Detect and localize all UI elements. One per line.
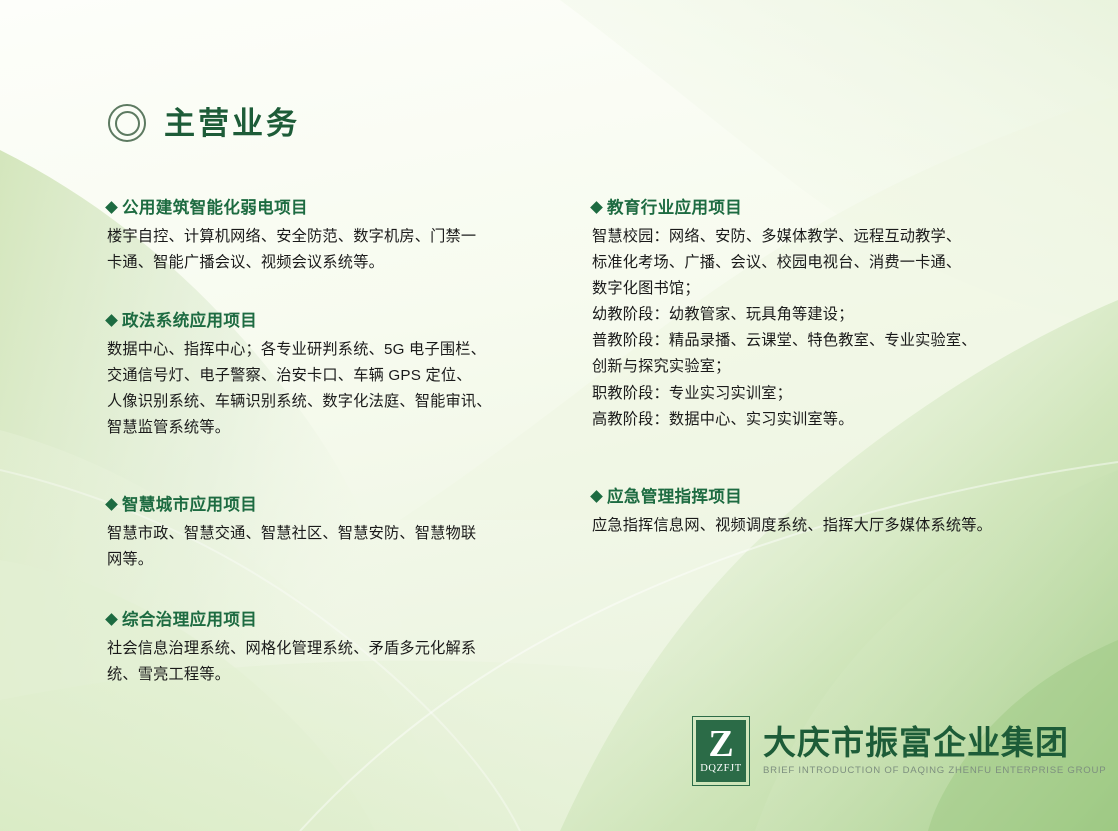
section-body: 数据中心、指挥中心；各专业研判系统、5G 电子围栏、 交通信号灯、电子警察、治安…	[107, 337, 547, 442]
body-line: 数据中心、指挥中心；各专业研判系统、5G 电子围栏、	[107, 337, 547, 363]
page-title: 主营业务	[164, 108, 300, 139]
body-line: 智慧监管系统等。	[107, 415, 547, 441]
section-body: 智慧校园：网络、安防、多媒体教学、远程互动教学、 标准化考场、广播、会议、校园电…	[592, 224, 1040, 433]
body-line: 高教阶段：数据中心、实习实训室等。	[592, 407, 1040, 433]
spacer	[107, 276, 547, 309]
company-name-en: BRIEF INTRODUCTION OF DAQING ZHENFU ENTE…	[763, 765, 1106, 777]
company-name-cn: 大庆市振富企业集团	[763, 725, 1106, 762]
section-heading-label: 综合治理应用项目	[122, 608, 257, 633]
logo-text-block: 大庆市振富企业集团 BRIEF INTRODUCTION OF DAQING Z…	[763, 725, 1106, 777]
spacer	[107, 441, 547, 493]
body-line: 智慧校园：网络、安防、多媒体教学、远程互动教学、	[592, 224, 1040, 250]
section-heading: 应急管理指挥项目	[592, 485, 1040, 510]
spacer	[107, 573, 547, 608]
body-line: 创新与探究实验室；	[592, 354, 1040, 380]
body-line: 应急指挥信息网、视频调度系统、指挥大厅多媒体系统等。	[592, 513, 1040, 539]
section-heading: 公用建筑智能化弱电项目	[107, 196, 547, 221]
section-heading: 政法系统应用项目	[107, 309, 547, 334]
section-heading-label: 应急管理指挥项目	[607, 485, 742, 510]
double-circle-icon-inner	[115, 111, 140, 136]
diamond-bullet-icon	[590, 201, 603, 214]
section-smart-city: 智慧城市应用项目 智慧市政、智慧交通、智慧社区、智慧安防、智慧物联 网等。	[107, 493, 547, 573]
body-line: 职教阶段：专业实习实训室；	[592, 381, 1040, 407]
body-line: 网等。	[107, 547, 547, 573]
body-line: 智慧市政、智慧交通、智慧社区、智慧安防、智慧物联	[107, 521, 547, 547]
section-heading-label: 政法系统应用项目	[122, 309, 257, 334]
body-line: 楼宇自控、计算机网络、安全防范、数字机房、门禁一	[107, 224, 547, 250]
section-emergency-management: 应急管理指挥项目 应急指挥信息网、视频调度系统、指挥大厅多媒体系统等。	[592, 485, 1040, 539]
section-education: 教育行业应用项目 智慧校园：网络、安防、多媒体教学、远程互动教学、 标准化考场、…	[592, 196, 1040, 433]
right-column: 教育行业应用项目 智慧校园：网络、安防、多媒体教学、远程互动教学、 标准化考场、…	[592, 196, 1040, 539]
logo-letter: Z	[708, 727, 733, 762]
section-body: 楼宇自控、计算机网络、安全防范、数字机房、门禁一 卡通、智能广播会议、视频会议系…	[107, 224, 547, 276]
section-body: 智慧市政、智慧交通、智慧社区、智慧安防、智慧物联 网等。	[107, 521, 547, 573]
section-public-building: 公用建筑智能化弱电项目 楼宇自控、计算机网络、安全防范、数字机房、门禁一 卡通、…	[107, 196, 547, 276]
section-heading-label: 公用建筑智能化弱电项目	[122, 196, 308, 221]
logo-mark-icon: Z DQZFJT	[692, 716, 750, 786]
logo-mark-inner: Z DQZFJT	[696, 720, 746, 782]
body-line: 人像识别系统、车辆识别系统、数字化法庭、智能审讯、	[107, 389, 547, 415]
body-line: 普教阶段：精品录播、云课堂、特色教室、专业实验室、	[592, 328, 1040, 354]
spacer	[592, 433, 1040, 485]
body-line: 统、雪亮工程等。	[107, 662, 547, 688]
logo-abbreviation: DQZFJT	[700, 763, 742, 775]
body-line: 卡通、智能广播会议、视频会议系统等。	[107, 250, 547, 276]
brochure-page: 主营业务 公用建筑智能化弱电项目 楼宇自控、计算机网络、安全防范、数字机房、门禁…	[0, 0, 1118, 831]
body-line: 幼教阶段：幼教管家、玩具角等建设；	[592, 302, 1040, 328]
section-heading-label: 教育行业应用项目	[607, 196, 742, 221]
diamond-bullet-icon	[105, 498, 118, 511]
diamond-bullet-icon	[105, 201, 118, 214]
body-line: 标准化考场、广播、会议、校园电视台、消费一卡通、	[592, 250, 1040, 276]
diamond-bullet-icon	[105, 314, 118, 327]
section-body: 社会信息治理系统、网格化管理系统、矛盾多元化解系 统、雪亮工程等。	[107, 636, 547, 688]
section-heading: 教育行业应用项目	[592, 196, 1040, 221]
section-comprehensive-governance: 综合治理应用项目 社会信息治理系统、网格化管理系统、矛盾多元化解系 统、雪亮工程…	[107, 608, 547, 688]
section-heading: 综合治理应用项目	[107, 608, 547, 633]
company-logo: Z DQZFJT 大庆市振富企业集团 BRIEF INTRODUCTION OF…	[692, 716, 1106, 786]
section-political-legal: 政法系统应用项目 数据中心、指挥中心；各专业研判系统、5G 电子围栏、 交通信号…	[107, 309, 547, 441]
double-circle-icon	[108, 104, 146, 142]
left-column: 公用建筑智能化弱电项目 楼宇自控、计算机网络、安全防范、数字机房、门禁一 卡通、…	[107, 196, 547, 688]
section-body: 应急指挥信息网、视频调度系统、指挥大厅多媒体系统等。	[592, 513, 1040, 539]
body-line: 数字化图书馆；	[592, 276, 1040, 302]
diamond-bullet-icon	[590, 490, 603, 503]
section-heading: 智慧城市应用项目	[107, 493, 547, 518]
body-line: 交通信号灯、电子警察、治安卡口、车辆 GPS 定位、	[107, 363, 547, 389]
body-line: 社会信息治理系统、网格化管理系统、矛盾多元化解系	[107, 636, 547, 662]
page-title-block: 主营业务	[108, 104, 300, 142]
diamond-bullet-icon	[105, 614, 118, 627]
section-heading-label: 智慧城市应用项目	[122, 493, 257, 518]
